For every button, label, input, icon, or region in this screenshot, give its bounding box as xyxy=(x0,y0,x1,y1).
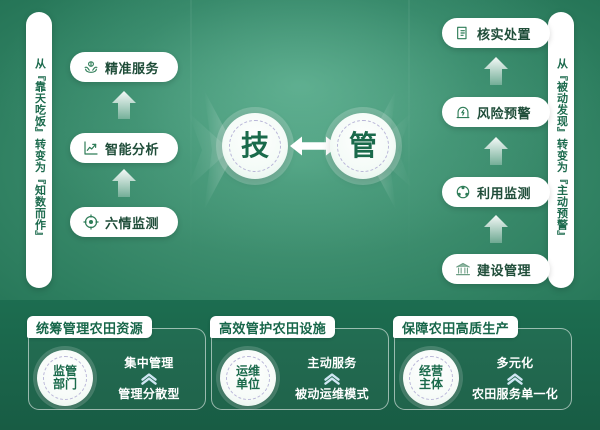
card-body: 经营 主体 多元化 农田服务单一化 xyxy=(395,345,573,411)
transition-from-label: 农田服务单一化 xyxy=(472,385,558,402)
chip-label: 精准服务 xyxy=(105,58,159,77)
role-line-2: 单位 xyxy=(236,378,260,391)
role-badge-inner: 运维 单位 xyxy=(226,356,270,400)
chip-verification-disposal[interactable]: 核实处置 xyxy=(442,18,550,48)
hub-inner-ring: 技 xyxy=(229,120,281,172)
banner-management-transformation: 从『被动发现』转变为『主动预警』 xyxy=(548,12,574,288)
alert-bolt-icon xyxy=(455,104,471,120)
hub-management[interactable]: 管 xyxy=(330,113,396,179)
target-crosshair-icon xyxy=(83,214,99,230)
chevron-up-icon xyxy=(140,372,158,384)
card-title: 高效管护农田设施 xyxy=(210,316,335,338)
transition-to-label: 多元化 xyxy=(497,354,534,371)
chevron-up-icon xyxy=(506,372,524,384)
hands-sprout-icon xyxy=(83,59,99,75)
chevron-up-icon xyxy=(323,372,341,384)
card-title: 保障农田高质生产 xyxy=(393,316,518,338)
chip-intelligent-analysis[interactable]: 智能分析 xyxy=(70,133,178,163)
hub-manage-glyph: 管 xyxy=(349,132,377,160)
card-title: 统筹管理农田资源 xyxy=(27,316,152,338)
hub-technology[interactable]: 技 xyxy=(222,113,288,179)
chip-six-conditions-monitoring[interactable]: 六情监测 xyxy=(70,207,178,237)
line-chart-up-icon xyxy=(83,140,99,156)
transition-block: 主动服务 被动运维模式 xyxy=(282,354,382,402)
transition-to-label: 集中管理 xyxy=(124,354,173,371)
flow-arrow-up-tech-1 xyxy=(111,168,137,198)
role-line-2: 部门 xyxy=(53,378,77,391)
hub-tech-glyph: 技 xyxy=(241,132,269,160)
transition-block: 集中管理 管理分散型 xyxy=(99,354,199,402)
chip-label: 核实处置 xyxy=(477,24,531,43)
top-flow-section: 从『靠天吃饭』转变为『知数而作』 从『被动发现』转变为『主动预警』 精准服务 xyxy=(0,0,600,300)
transition-block: 多元化 农田服务单一化 xyxy=(465,354,565,402)
card-farmland-facility-management[interactable]: 高效管护农田设施 运维 单位 主动服务 被动运维模式 xyxy=(211,328,389,410)
chip-label: 利用监测 xyxy=(477,183,531,202)
hub-inner-ring: 管 xyxy=(337,120,389,172)
flow-arrow-up-manage-1 xyxy=(483,214,509,244)
card-body: 运维 单位 主动服务 被动运维模式 xyxy=(212,345,390,411)
transition-to-label: 主动服务 xyxy=(307,354,356,371)
flow-arrow-up-manage-3 xyxy=(483,56,509,86)
transition-from-label: 管理分散型 xyxy=(118,385,180,402)
role-badge-operator: 运维 单位 xyxy=(220,350,276,406)
banner-tech-transformation: 从『靠天吃饭』转变为『知数而作』 xyxy=(26,12,52,288)
transition-from-label: 被动运维模式 xyxy=(295,385,369,402)
chip-label: 风险预警 xyxy=(477,103,531,122)
role-badge-regulator: 监管 部门 xyxy=(37,350,93,406)
role-line-2: 主体 xyxy=(419,378,443,391)
flow-arrow-up-tech-2 xyxy=(111,90,137,120)
banner-left-text: 从『靠天吃饭』转变为『知数而作』 xyxy=(33,58,46,242)
flow-arrow-up-manage-2 xyxy=(483,136,509,166)
role-badge-business-entity: 经营 主体 xyxy=(403,350,459,406)
chip-label: 六情监测 xyxy=(105,213,159,232)
infographic-canvas: 从『靠天吃饭』转变为『知数而作』 从『被动发现』转变为『主动预警』 精准服务 xyxy=(0,0,600,430)
chip-label: 建设管理 xyxy=(477,260,531,279)
clipboard-check-icon xyxy=(455,25,471,41)
card-farmland-production-quality[interactable]: 保障农田高质生产 经营 主体 多元化 农田服务单一化 xyxy=(394,328,572,410)
card-farmland-resource-management[interactable]: 统筹管理农田资源 监管 部门 集中管理 管理分散型 xyxy=(28,328,206,410)
role-badge-inner: 监管 部门 xyxy=(43,356,87,400)
recycle-icon xyxy=(455,184,471,200)
chip-label: 智能分析 xyxy=(105,139,159,158)
chip-construction-management[interactable]: 建设管理 xyxy=(442,254,550,284)
card-body: 监管 部门 集中管理 管理分散型 xyxy=(29,345,207,411)
chip-precision-service[interactable]: 精准服务 xyxy=(70,52,178,82)
chip-risk-warning[interactable]: 风险预警 xyxy=(442,97,550,127)
role-badge-inner: 经营 主体 xyxy=(409,356,453,400)
bank-building-icon xyxy=(455,261,471,277)
chip-utilization-monitoring[interactable]: 利用监测 xyxy=(442,177,550,207)
banner-right-text: 从『被动发现』转变为『主动预警』 xyxy=(555,58,568,242)
